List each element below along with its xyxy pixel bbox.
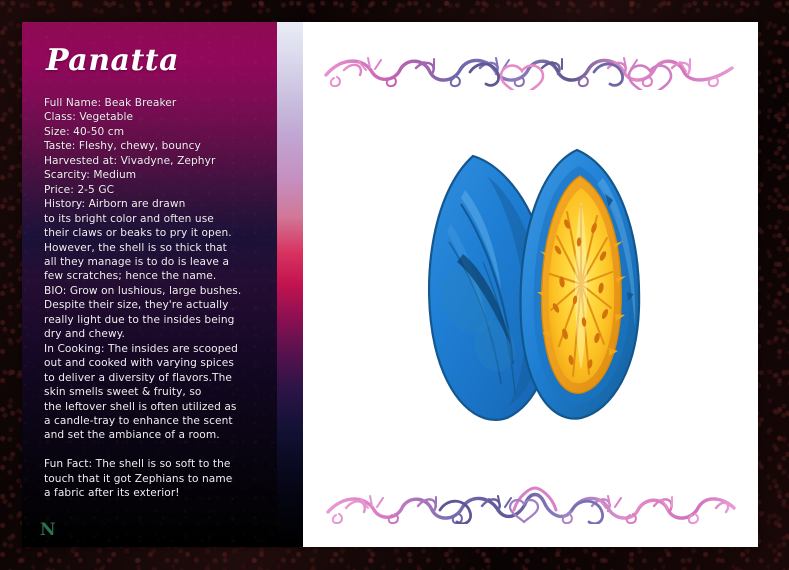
body-line: really light due to the insides being [44,313,270,327]
body-line: touch that it got Zephians to name [44,472,270,486]
body-line: to its bright color and often use [44,212,270,226]
spec-row-class: Class: Vegetable [44,110,270,124]
body-line: History: Airborn are drawn [44,197,270,211]
page-title: Panatta [46,46,261,76]
field-guide-card: Panatta Full Name: Beak Breaker Class: V… [22,22,758,547]
body-line: the leftover shell is often utilized as [44,400,270,414]
body-line: skin smells sweet & fruity, so [44,385,270,399]
body-line: and set the ambiance of a room. [44,428,270,442]
body-line: out and cooked with varying spices [44,356,270,370]
spec-row-size: Size: 40-50 cm [44,125,270,139]
body-line-spacer [44,443,270,457]
body-line: their claws or beaks to pry it open. [44,226,270,240]
body-line: few scratches; hence the name. [44,269,270,283]
body-line: In Cooking: The insides are scooped [44,342,270,356]
specimen-illustration [391,132,671,432]
body-line: a fabric after its exterior! [44,486,270,500]
body-line: Despite their size, they're actually [44,298,270,312]
body-line: to deliver a diversity of flavors.The [44,371,270,385]
spec-row-scarcity: Scarcity: Medium [44,168,270,182]
artist-signature: N [40,522,56,539]
floral-filigree-ornament-bottom-icon [320,482,742,524]
body-line: all they manage is to do is leave a [44,255,270,269]
specimen-details-list: Full Name: Beak Breaker Class: Vegetable… [44,96,270,501]
accent-gradient-strip [277,22,303,547]
illustration-plate [303,22,758,547]
floral-filigree-ornament-top-icon [320,48,742,90]
body-line: Fun Fact: The shell is so soft to the [44,457,270,471]
right-pod-half-open [520,150,639,419]
body-line: BIO: Grow on lushious, large bushes. [44,284,270,298]
spec-row-harvested-at: Harvested at: Vivadyne, Zephyr [44,154,270,168]
spec-row-full-name: Full Name: Beak Breaker [44,96,270,110]
spec-row-taste: Taste: Fleshy, chewy, bouncy [44,139,270,153]
spec-row-price: Price: 2-5 GC [44,183,270,197]
info-panel: Panatta Full Name: Beak Breaker Class: V… [22,22,277,547]
desktop-background: Panatta Full Name: Beak Breaker Class: V… [0,0,789,570]
body-line: However, the shell is so thick that [44,241,270,255]
body-line: dry and chewy. [44,327,270,341]
body-line: a candle-tray to enhance the scent [44,414,270,428]
